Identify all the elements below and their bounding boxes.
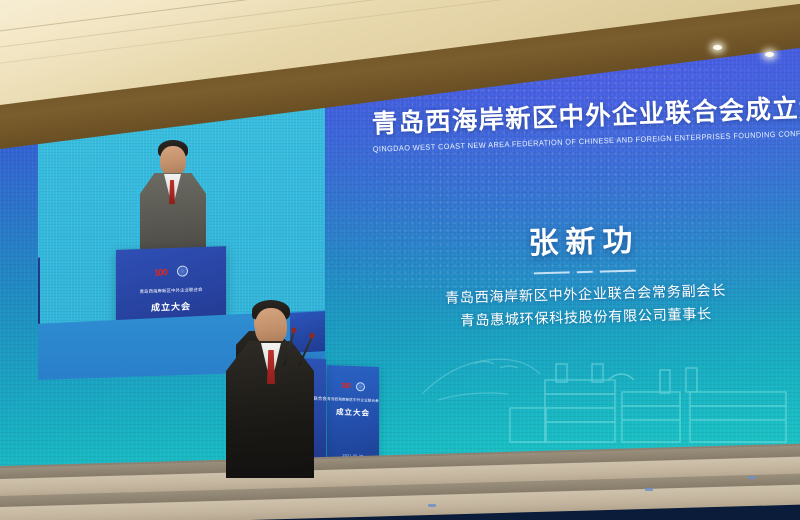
floor-marker-1 — [428, 504, 436, 507]
podium-secondary-logos: 100 — [327, 381, 379, 392]
wall-headline-block: 青岛西海岸新区中外企业联合会成立大会 QINGDAO WEST COAST NE… — [371, 96, 787, 153]
speaker-name-block: 张新功 青岛西海岸新区中外企业联合会常务副会长 青岛惠城环保科技股份有限公司董事… — [419, 223, 752, 334]
feed-speaker-figure — [134, 140, 212, 256]
speaker-head — [255, 308, 287, 345]
conference-stage-scene: 100 庆祝中国共产党成立100周年 ⚛ 西海岸新区中外企业联合会 青岛西海岸新… — [0, 0, 800, 520]
ceiling-downlight-2 — [765, 52, 774, 57]
podium-secondary-seal-icon — [356, 382, 365, 391]
podium-secondary-line-1: 青岛西海岸新区中外企业联合会 — [327, 397, 379, 404]
floor-marker-3 — [748, 476, 756, 479]
speaker-tie — [267, 350, 275, 384]
stage-speaker-figure — [224, 300, 320, 478]
name-divider — [420, 266, 750, 277]
feed-podium-seal-icon — [177, 265, 188, 276]
floor-marker-2 — [645, 488, 653, 491]
feed-podium-line-2: 成立大会 — [116, 298, 226, 315]
speaker-name: 张新功 — [419, 223, 750, 262]
podium-secondary-cpc-icon: 100 — [341, 383, 350, 390]
wave-line-art — [416, 342, 596, 412]
feed-speaker-head — [160, 146, 186, 176]
feed-podium-cpc-icon: 100 — [154, 267, 167, 277]
feed-podium-logos: 100 — [116, 264, 226, 279]
podium-secondary-line-2: 成立大会 — [327, 406, 379, 419]
feed-podium-line-1: 青岛西海岸新区中外企业联合会 — [116, 286, 226, 296]
ceiling-downlight-1 — [713, 45, 722, 50]
